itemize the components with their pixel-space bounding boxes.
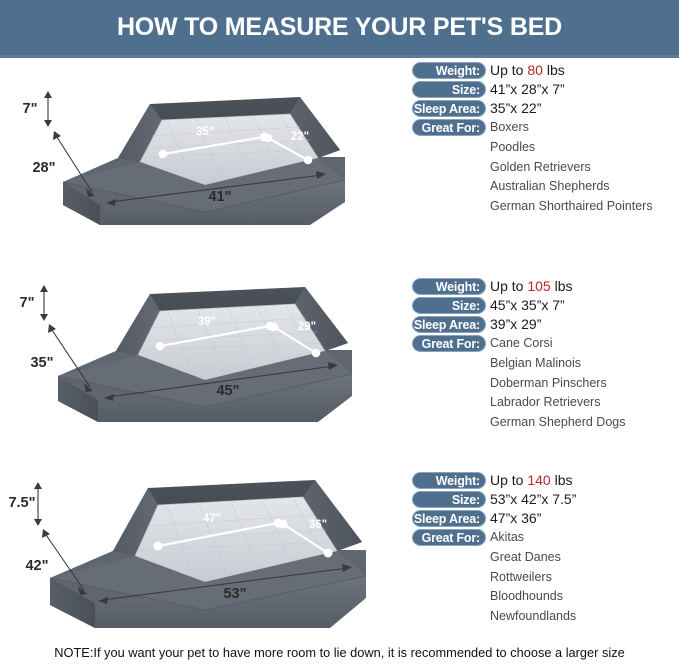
size-label-pill: Size: xyxy=(412,297,486,314)
sleep-area-value: 47”x 36” xyxy=(490,510,541,527)
spec-row-sleep-area: Sleep Area: 47”x 36” xyxy=(412,510,679,529)
bed-depth-label: 28" xyxy=(32,160,55,176)
breed-item: Labrador Retrievers xyxy=(490,393,679,413)
page-title: HOW TO MEASURE YOUR PET'S BED xyxy=(0,0,679,55)
spec-row-size: Size: 53”x 42”x 7.5” xyxy=(412,491,679,510)
sleep-area-label-pill: Sleep Area: xyxy=(412,510,486,527)
bed-illustration-large: 35" 22" 7" 28" 41" xyxy=(0,62,410,237)
spec-row-size: Size: 41”x 28”x 7” xyxy=(412,81,679,100)
sleep-area-value: 35”x 22” xyxy=(490,100,541,117)
weight-value: Up to 105 lbs xyxy=(490,278,573,295)
weight-prefix: Up to xyxy=(490,278,527,294)
breed-list: Belgian Malinois Doberman Pinschers Labr… xyxy=(490,354,679,432)
breed-item: Boxers xyxy=(490,119,529,136)
bed-illustration-xxlarge: 47" 36" 7.5" 42" 53" xyxy=(0,450,410,625)
inner-depth-label: 36" xyxy=(309,519,327,531)
bed-depth-label: 42" xyxy=(25,558,48,574)
page-header: HOW TO MEASURE YOUR PET'S BED xyxy=(0,0,679,58)
inner-width-label: 39" xyxy=(198,316,216,328)
spec-row-weight: Weight: Up to 105 lbs xyxy=(412,278,679,297)
weight-value: Up to 140 lbs xyxy=(490,472,573,489)
breed-item: Akitas xyxy=(490,529,524,546)
sleep-area-value: 39”x 29” xyxy=(490,316,541,333)
weight-suffix: lbs xyxy=(551,278,573,294)
breed-item: Rottweilers xyxy=(490,568,679,588)
weight-value: Up to 80 lbs xyxy=(490,62,565,79)
bed-height-label: 7" xyxy=(20,295,35,311)
weight-label-pill: Weight: xyxy=(412,278,486,295)
breed-list: Poodles Golden Retrievers Australian She… xyxy=(490,138,679,216)
great-for-label-pill: Great For: xyxy=(412,529,486,546)
weight-suffix: lbs xyxy=(551,472,573,488)
spec-row-weight: Weight: Up to 80 lbs xyxy=(412,62,679,81)
breed-item: Bloodhounds xyxy=(490,587,679,607)
size-label-pill: Size: xyxy=(412,491,486,508)
footer-note: NOTE:If you want your pet to have more r… xyxy=(0,645,679,660)
breed-item: Cane Corsi xyxy=(490,335,553,352)
bed-width-label: 41" xyxy=(208,189,231,205)
spec-row-great-for: Great For: Akitas xyxy=(412,529,679,548)
spec-list: Weight: Up to 140 lbs Size: 53”x 42”x 7.… xyxy=(412,472,679,548)
breed-item: Newfoundlands xyxy=(490,607,679,627)
size-label-pill: Size: xyxy=(412,81,486,98)
breed-item: German Shorthaired Pointers xyxy=(490,197,679,217)
weight-number: 80 xyxy=(527,62,543,78)
breed-item: Belgian Malinois xyxy=(490,354,679,374)
bed-depth-label: 35" xyxy=(30,355,53,371)
breed-item: Doberman Pinschers xyxy=(490,374,679,394)
weight-prefix: Up to xyxy=(490,472,527,488)
great-for-label-pill: Great For: xyxy=(412,335,486,352)
sleep-area-label-pill: Sleep Area: xyxy=(412,316,486,333)
weight-suffix: lbs xyxy=(543,62,565,78)
size-value: 41”x 28”x 7” xyxy=(490,81,565,98)
breed-list: Great Danes Rottweilers Bloodhounds Newf… xyxy=(490,548,679,626)
spec-list: Weight: Up to 105 lbs Size: 45”x 35”x 7”… xyxy=(412,278,679,354)
weight-label-pill: Weight: xyxy=(412,472,486,489)
inner-depth-label: 22" xyxy=(291,131,309,143)
sleep-area-label-pill: Sleep Area: xyxy=(412,100,486,117)
weight-number: 140 xyxy=(527,472,550,488)
breed-item: Great Danes xyxy=(490,548,679,568)
spec-row-great-for: Great For: Cane Corsi xyxy=(412,335,679,354)
bed-illustration-xlarge: 39" 29" 7" 35" 45" xyxy=(0,254,410,429)
inner-width-label: 47" xyxy=(203,513,221,525)
breed-item: German Shepherd Dogs xyxy=(490,413,679,433)
spec-row-sleep-area: Sleep Area: 35”x 22” xyxy=(412,100,679,119)
size-value: 45”x 35”x 7” xyxy=(490,297,565,314)
bed-height-label: 7" xyxy=(23,101,38,117)
breed-item: Australian Shepherds xyxy=(490,177,679,197)
weight-label-pill: Weight: xyxy=(412,62,486,79)
spec-row-weight: Weight: Up to 140 lbs xyxy=(412,472,679,491)
spec-row-size: Size: 45”x 35”x 7” xyxy=(412,297,679,316)
bed-width-label: 45" xyxy=(216,383,239,399)
size-value: 53”x 42”x 7.5” xyxy=(490,491,576,508)
weight-number: 105 xyxy=(527,278,550,294)
bed-width-label: 53" xyxy=(223,586,246,602)
weight-prefix: Up to xyxy=(490,62,527,78)
spec-row-great-for: Great For: Boxers xyxy=(412,119,679,138)
inner-width-label: 35" xyxy=(196,126,214,138)
spec-list: Weight: Up to 80 lbs Size: 41”x 28”x 7” … xyxy=(412,62,679,138)
breed-item: Golden Retrievers xyxy=(490,158,679,178)
bed-height-label: 7.5" xyxy=(8,495,35,511)
great-for-label-pill: Great For: xyxy=(412,119,486,136)
spec-row-sleep-area: Sleep Area: 39”x 29” xyxy=(412,316,679,335)
inner-depth-label: 29" xyxy=(298,321,316,333)
breed-item: Poodles xyxy=(490,138,679,158)
